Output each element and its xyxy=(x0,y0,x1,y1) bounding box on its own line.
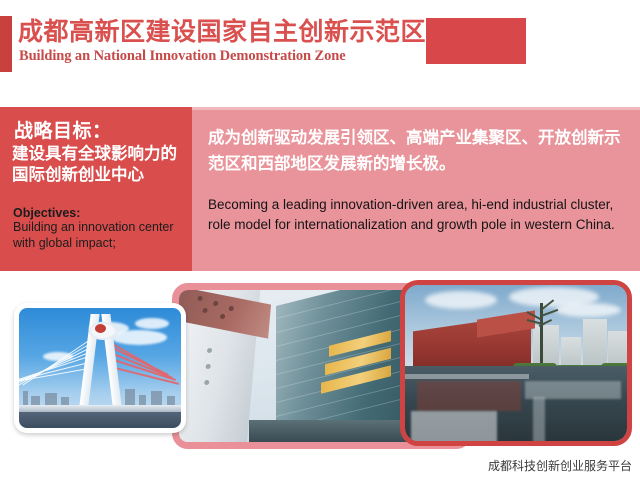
objectives-body-english: Building an innovation center with globa… xyxy=(13,220,185,252)
objectives-title-chinese: 战略目标： xyxy=(14,116,112,143)
photo-cable-stayed-bridge xyxy=(14,303,186,433)
vision-text-english: Becoming a leading innovation-driven are… xyxy=(208,195,628,234)
header-red-block xyxy=(426,18,526,64)
footer-credit: 成都科技创新创业服务平台 xyxy=(488,457,632,474)
slide-header: 成都高新区建设国家自主创新示范区 Building an National In… xyxy=(0,14,640,76)
vision-panel: 成为创新驱动发展引领区、高端产业集聚区、开放创新示范区和西部地区发展新的增长极。… xyxy=(192,107,640,271)
header-title-chinese: 成都高新区建设国家自主创新示范区 xyxy=(18,12,426,48)
objectives-label-english: Objectives: xyxy=(13,206,80,220)
vision-text-chinese: 成为创新驱动发展引领区、高端产业集聚区、开放创新示范区和西部地区发展新的增长极。 xyxy=(208,125,626,176)
header-accent-bar xyxy=(0,16,12,72)
slide-canvas: 成都高新区建设国家自主创新示范区 Building an National In… xyxy=(0,0,640,480)
photo-strip xyxy=(0,271,640,480)
header-title-english: Building an National Innovation Demonstr… xyxy=(19,48,346,65)
bridge-deck xyxy=(19,405,181,412)
museum-walkway xyxy=(405,374,529,379)
objectives-panel: 战略目标： 建设具有全球影响力的国际创新创业中心 Objectives: Bui… xyxy=(0,107,192,271)
building-left-roof xyxy=(174,286,271,339)
bridge-red-ring xyxy=(95,324,106,333)
bridge-water xyxy=(19,412,181,428)
vision-panel-top-stripe xyxy=(192,107,640,110)
objectives-subtitle-chinese: 建设具有全球影响力的国际创新创业中心 xyxy=(12,144,188,186)
photo-red-museum-waterfront xyxy=(400,280,632,446)
